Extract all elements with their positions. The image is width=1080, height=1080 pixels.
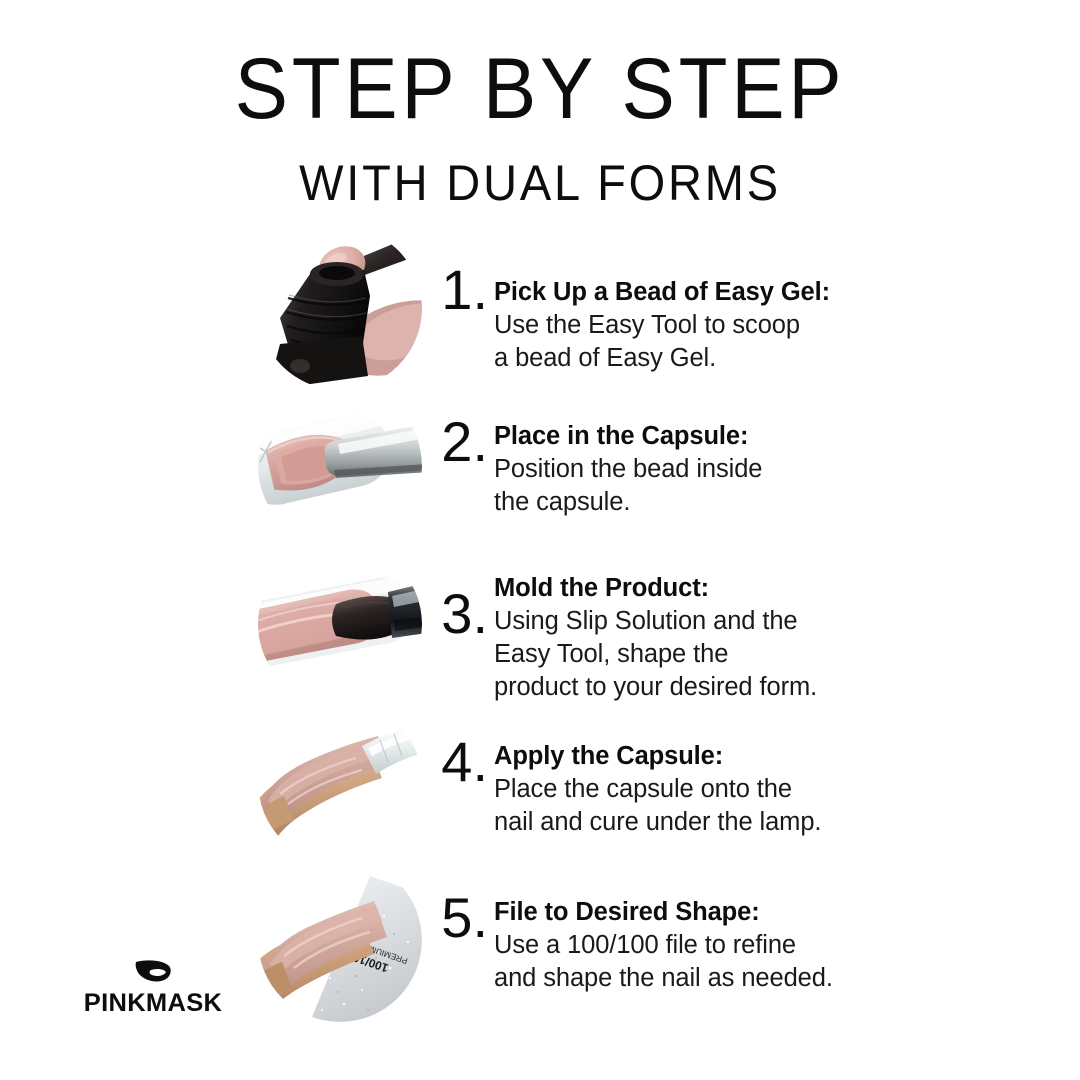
header: STEP BY STEP WITH DUAL FORMS bbox=[0, 0, 1080, 208]
step-item: 3. Mold the Product: Using Slip Solution… bbox=[0, 542, 1080, 700]
step-body-line: a bead of Easy Gel. bbox=[494, 342, 924, 375]
step-body-line: and shape the nail as needed. bbox=[494, 962, 924, 995]
step-title: Apply the Capsule: bbox=[494, 740, 924, 773]
step-body-line: Use the Easy Tool to scoop bbox=[494, 309, 924, 342]
page-subtitle: WITH DUAL FORMS bbox=[32, 158, 1047, 208]
step-body-line: Using Slip Solution and the bbox=[494, 605, 924, 638]
brand-wordmark: PINKMASK bbox=[77, 989, 230, 1018]
steps-list: 1. Pick Up a Bead of Easy Gel: Use the E… bbox=[0, 226, 1080, 1016]
step-text: File to Desired Shape: Use a 100/100 fil… bbox=[494, 896, 924, 995]
photo-gel-tube-bead bbox=[258, 226, 422, 390]
step-body-line: the capsule. bbox=[494, 486, 924, 519]
brand-word-mask: MASK bbox=[146, 989, 222, 1017]
step-number: 2. bbox=[432, 414, 488, 470]
leaf-icon bbox=[133, 958, 173, 986]
step-item: 4. Apply the Capsule: Place the capsule … bbox=[0, 700, 1080, 858]
step-body-line: nail and cure under the lamp. bbox=[494, 806, 924, 839]
step-text: Pick Up a Bead of Easy Gel: Use the Easy… bbox=[494, 276, 924, 375]
step-text: Apply the Capsule: Place the capsule ont… bbox=[494, 740, 924, 839]
step-body-line: Position the bead inside bbox=[494, 453, 924, 486]
brand-word-pink: PINK bbox=[84, 989, 146, 1017]
step-title: Place in the Capsule: bbox=[494, 420, 924, 453]
step-item: 1. Pick Up a Bead of Easy Gel: Use the E… bbox=[0, 226, 1080, 384]
photo-apply-capsule bbox=[258, 700, 422, 864]
step-number: 5. bbox=[432, 890, 488, 946]
brand-logo: PINKMASK bbox=[78, 958, 228, 1018]
step-item: 2. Place in the Capsule: Position the be… bbox=[0, 384, 1080, 542]
step-text: Place in the Capsule: Position the bead … bbox=[494, 420, 924, 519]
step-number: 4. bbox=[432, 734, 488, 790]
step-number: 3. bbox=[432, 586, 488, 642]
step-text: Mold the Product: Using Slip Solution an… bbox=[494, 572, 924, 705]
step-number: 1. bbox=[432, 262, 488, 318]
step-body-line: Use a 100/100 file to refine bbox=[494, 929, 924, 962]
step-title: Pick Up a Bead of Easy Gel: bbox=[494, 276, 924, 309]
photo-mold-brush bbox=[258, 542, 422, 706]
step-body-line: Place the capsule onto the bbox=[494, 773, 924, 806]
photo-capsule-bead bbox=[258, 384, 422, 548]
step-body-line: Easy Tool, shape the bbox=[494, 638, 924, 671]
step-title: File to Desired Shape: bbox=[494, 896, 924, 929]
photo-file-nail: 100/100 PREMIUM | ZEBRA bbox=[258, 858, 422, 1022]
page-title: STEP BY STEP bbox=[38, 46, 1042, 132]
step-title: Mold the Product: bbox=[494, 572, 924, 605]
